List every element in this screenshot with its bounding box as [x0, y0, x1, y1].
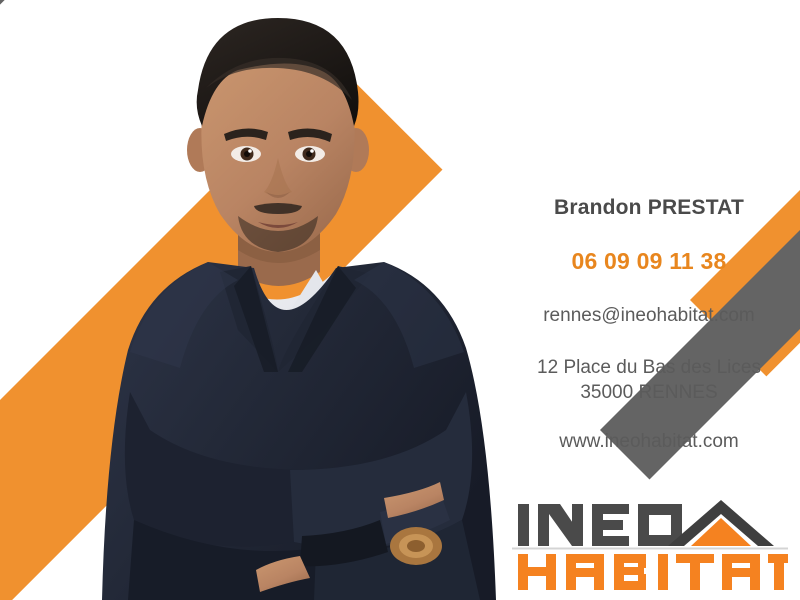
contact-address: 12 Place du Bas des Lices 35000 RENNES — [498, 355, 800, 405]
roof-chevron-icon — [668, 500, 774, 546]
logo-word-habitat — [518, 554, 788, 590]
contact-details: Brandon PRESTAT 06 09 09 11 38 rennes@in… — [498, 196, 800, 453]
ineo-habitat-logo[interactable] — [512, 492, 788, 592]
contact-address-line2: 35000 RENNES — [498, 380, 800, 405]
contact-address-line1: 12 Place du Bas des Lices — [498, 355, 800, 380]
logo-divider — [512, 548, 788, 550]
contact-email[interactable]: rennes@ineohabitat.com — [498, 305, 800, 327]
business-card: Brandon PRESTAT 06 09 09 11 38 rennes@in… — [0, 0, 800, 600]
logo-word-ineo — [518, 504, 682, 546]
contact-website[interactable]: www.ineohabitat.com — [498, 431, 800, 453]
contact-phone[interactable]: 06 09 09 11 38 — [498, 248, 800, 275]
portrait-photo — [88, 0, 518, 600]
contact-name: Brandon PRESTAT — [498, 196, 800, 220]
